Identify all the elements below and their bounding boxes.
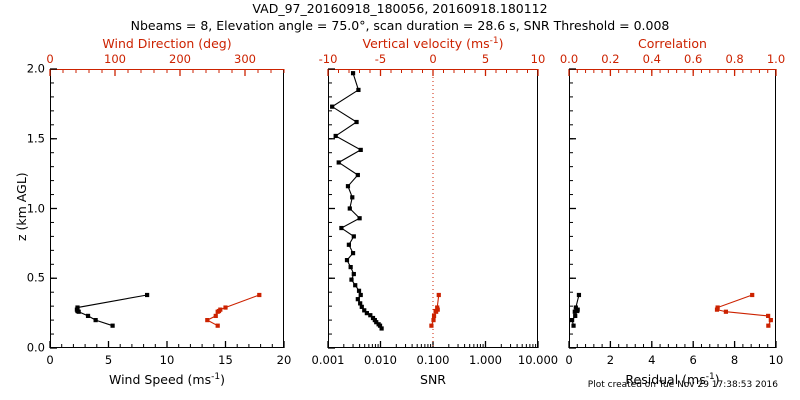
xtick-bottom-wind-1: 5 <box>105 355 112 367</box>
top-axis-line-wind <box>50 69 284 70</box>
xtick-bottom-residual-4: 8 <box>731 355 738 367</box>
xtick-bottom-wind-4: 20 <box>277 355 292 367</box>
xtick-bottom-residual-3: 6 <box>690 355 697 367</box>
xtick-top-wind-2: 200 <box>169 54 191 66</box>
plot-frame-wind <box>50 69 284 348</box>
plot-frame-residual <box>569 69 776 348</box>
xtick-bottom-residual-2: 4 <box>648 355 655 367</box>
xtick-top-snr-4: 10 <box>531 54 546 66</box>
xaxis-title-bottom-snr: SNR <box>420 374 446 387</box>
xaxis-title-top-wind: Wind Direction (deg) <box>102 38 231 51</box>
xtick-bottom-snr-4: 10.000 <box>518 355 558 367</box>
xaxis-title-top-snr: Vertical velocity (ms-1) <box>362 38 503 51</box>
plot-footer-timestamp: Plot created on Tue Nov 29 17:38:53 2016 <box>588 381 778 390</box>
xtick-top-residual-2: 0.4 <box>643 54 661 66</box>
xtick-top-snr-0: -10 <box>319 54 338 66</box>
xtick-bottom-snr-1: 0.010 <box>364 355 397 367</box>
xtick-top-residual-4: 0.8 <box>725 54 743 66</box>
xtick-bottom-wind-2: 10 <box>160 355 175 367</box>
xtick-top-residual-0: 0.0 <box>560 54 578 66</box>
xaxis-title-bottom-wind: Wind Speed (ms-1) <box>109 374 225 387</box>
xtick-top-residual-5: 1.0 <box>767 54 785 66</box>
xtick-top-wind-3: 300 <box>234 54 256 66</box>
xtick-top-wind-0: 0 <box>46 54 53 66</box>
plot-frame-snr <box>328 69 538 348</box>
ytick-1: 0.5 <box>27 273 45 285</box>
ytick-3: 1.5 <box>27 133 45 145</box>
xtick-bottom-residual-5: 10 <box>769 355 784 367</box>
plot-title-line1: VAD_97_20160918_180056, 20160918.180112 <box>252 3 547 16</box>
ytick-2: 1.0 <box>27 203 45 215</box>
xtick-bottom-snr-3: 1.000 <box>469 355 502 367</box>
ytick-4: 2.0 <box>27 63 45 75</box>
ytick-0: 0.0 <box>27 342 45 354</box>
xtick-bottom-residual-1: 2 <box>607 355 614 367</box>
xtick-bottom-wind-3: 15 <box>218 355 233 367</box>
xtick-top-residual-3: 0.6 <box>684 54 702 66</box>
top-axis-line-snr <box>328 69 538 70</box>
xaxis-title-top-residual: Correlation <box>638 38 707 51</box>
xtick-bottom-snr-0: 0.001 <box>312 355 345 367</box>
plot-title-line2: Nbeams = 8, Elevation angle = 75.0°, sca… <box>131 20 670 33</box>
xtick-top-snr-1: -5 <box>375 54 386 66</box>
xtick-bottom-snr-2: 0.100 <box>417 355 450 367</box>
xtick-top-wind-1: 100 <box>104 54 126 66</box>
xtick-top-snr-3: 5 <box>482 54 489 66</box>
xtick-top-snr-2: 0 <box>429 54 436 66</box>
top-axis-line-residual <box>569 69 776 70</box>
yaxis-title: z (km AGL) <box>16 172 29 241</box>
xtick-bottom-residual-0: 0 <box>565 355 572 367</box>
vad-plot-figure: VAD_97_20160918_180056, 20160918.180112 … <box>0 0 800 400</box>
xtick-top-residual-1: 0.2 <box>601 54 619 66</box>
xtick-bottom-wind-0: 0 <box>46 355 53 367</box>
